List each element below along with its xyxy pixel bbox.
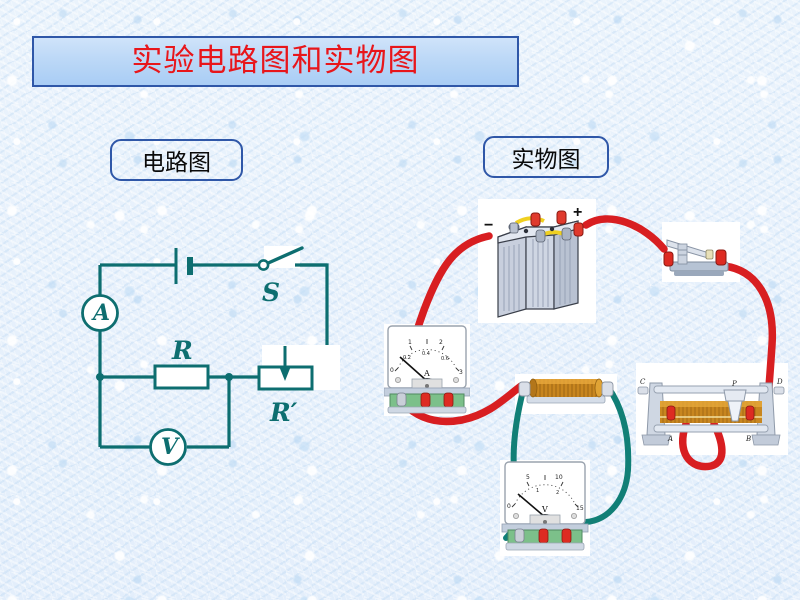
rheostat-terminal-b: B	[745, 435, 751, 443]
battery-minus-label: −	[484, 217, 493, 235]
rheostat-terminal-c: C	[640, 378, 646, 386]
wire-battery-to-switch	[586, 219, 664, 249]
svg-text:0.4: 0.4	[422, 351, 430, 357]
voltmeter-photo: 0 5 10 15 1 2 V	[500, 460, 590, 556]
svg-text:0: 0	[390, 367, 394, 374]
svg-text:10: 10	[555, 474, 563, 481]
svg-text:5: 5	[526, 474, 530, 481]
svg-text:2: 2	[439, 339, 443, 346]
svg-text:15: 15	[576, 505, 584, 512]
rheostat-slider-p: P	[731, 380, 737, 388]
voltmeter-symbol-label: V	[541, 505, 548, 514]
sliding-rheostat: C D A B P	[636, 363, 788, 455]
svg-text:0: 0	[507, 503, 511, 510]
svg-text:2: 2	[556, 490, 559, 496]
svg-text:3: 3	[459, 369, 463, 376]
svg-text:1: 1	[408, 339, 412, 346]
battery-plus-label: +	[573, 204, 582, 222]
svg-text:0.6: 0.6	[441, 356, 449, 362]
rheostat-terminal-a: A	[667, 435, 673, 443]
coil-resistor	[515, 374, 617, 414]
rheostat-terminal-d: D	[776, 378, 783, 386]
ammeter-photo: 0 1 2 3 0.2 0.4 0.6 A	[384, 324, 470, 416]
svg-text:1: 1	[536, 488, 539, 494]
ammeter-symbol-label: A	[423, 369, 430, 378]
pictorial-wiring	[0, 0, 800, 600]
knife-switch	[662, 222, 740, 282]
